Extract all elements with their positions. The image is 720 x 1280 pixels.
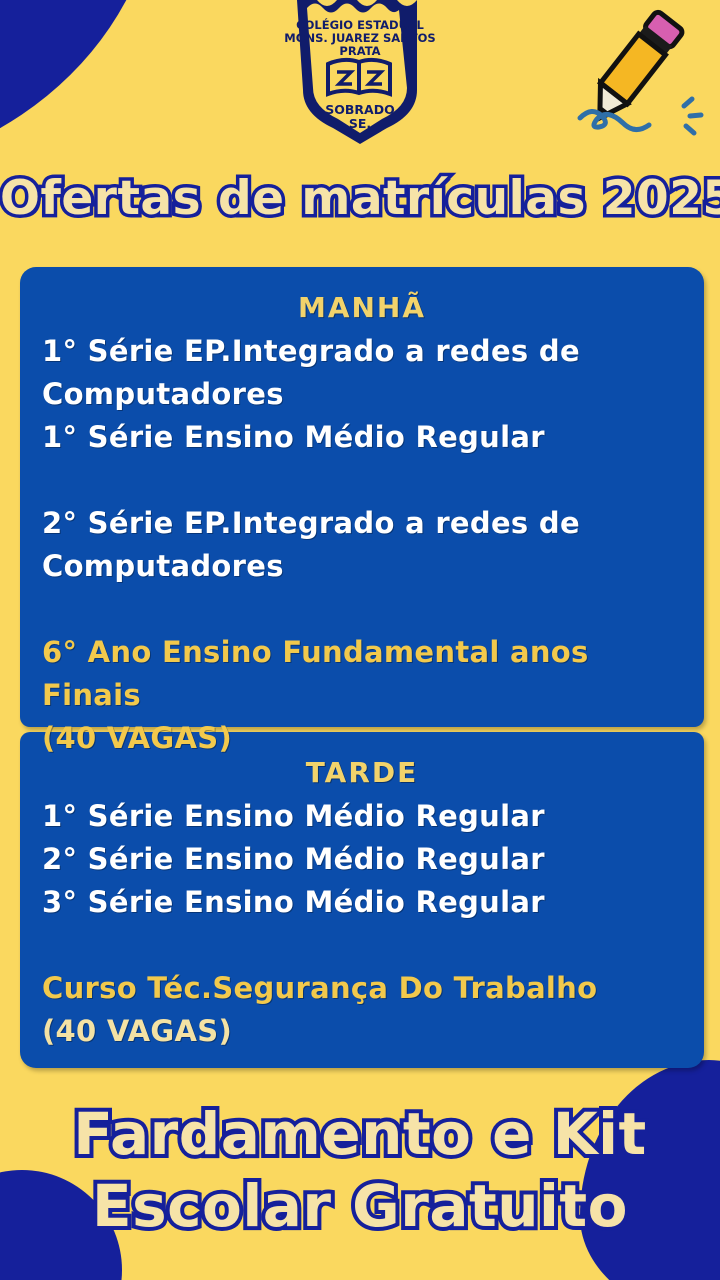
crest-line-2: MONS. JUAREZ SANTOS — [285, 31, 435, 45]
course-item: 3° Série Ensino Médio Regular — [20, 881, 704, 924]
shift-label-manha: MANHÃ — [20, 291, 704, 324]
course-item: Computadores — [20, 373, 704, 416]
crest-line-5: SE. — [349, 116, 371, 131]
blue-corner-blob-top-left — [0, 0, 199, 172]
footer-line-2: Escolar Gratuito — [0, 1170, 720, 1242]
crest-line-4: SOBRADO — [325, 102, 394, 117]
shift-panel-tarde: TARDE 1° Série Ensino Médio Regular 2° S… — [20, 732, 704, 1068]
crest-line-3: PRATA — [339, 44, 380, 58]
spark-marks-icon — [684, 99, 701, 133]
course-item: Computadores — [20, 545, 704, 588]
course-item: 2° Série EP.Integrado a redes de — [20, 502, 704, 545]
course-item: (40 VAGAS) — [20, 1010, 704, 1053]
open-book-icon — [328, 60, 390, 94]
course-item: 6° Ano Ensino Fundamental anos Finais — [20, 631, 704, 717]
course-item: 2° Série Ensino Médio Regular — [20, 838, 704, 881]
shift-label-tarde: TARDE — [20, 756, 704, 789]
course-item: 1° Série Ensino Médio Regular — [20, 416, 704, 459]
offers-panels: MANHÃ 1° Série EP.Integrado a redes de C… — [20, 267, 704, 1068]
pencil-icon — [562, 2, 712, 142]
crest-line-1: COLÉGIO ESTADUAL — [296, 17, 424, 32]
course-list-tarde: 1° Série Ensino Médio Regular 2° Série E… — [20, 795, 704, 1053]
footer-callout: Fardamento e Kit Escolar Gratuito — [0, 1098, 720, 1242]
footer-line-1: Fardamento e Kit — [73, 1100, 647, 1168]
shift-panel-manha: MANHÃ 1° Série EP.Integrado a redes de C… — [20, 267, 704, 727]
course-item: Curso Téc.Segurança Do Trabalho — [20, 967, 704, 1010]
course-item: 1° Série Ensino Médio Regular — [20, 795, 704, 838]
school-crest-icon: COLÉGIO ESTADUAL MONS. JUAREZ SANTOS PRA… — [285, 0, 435, 156]
blue-squiggle-icon — [580, 111, 649, 129]
page-title: Ofertas de matrículas 2025 — [0, 168, 720, 230]
poster-root: COLÉGIO ESTADUAL MONS. JUAREZ SANTOS PRA… — [0, 0, 720, 1280]
course-list-manha: 1° Série EP.Integrado a redes de Computa… — [20, 330, 704, 760]
course-item: 1° Série EP.Integrado a redes de — [20, 330, 704, 373]
